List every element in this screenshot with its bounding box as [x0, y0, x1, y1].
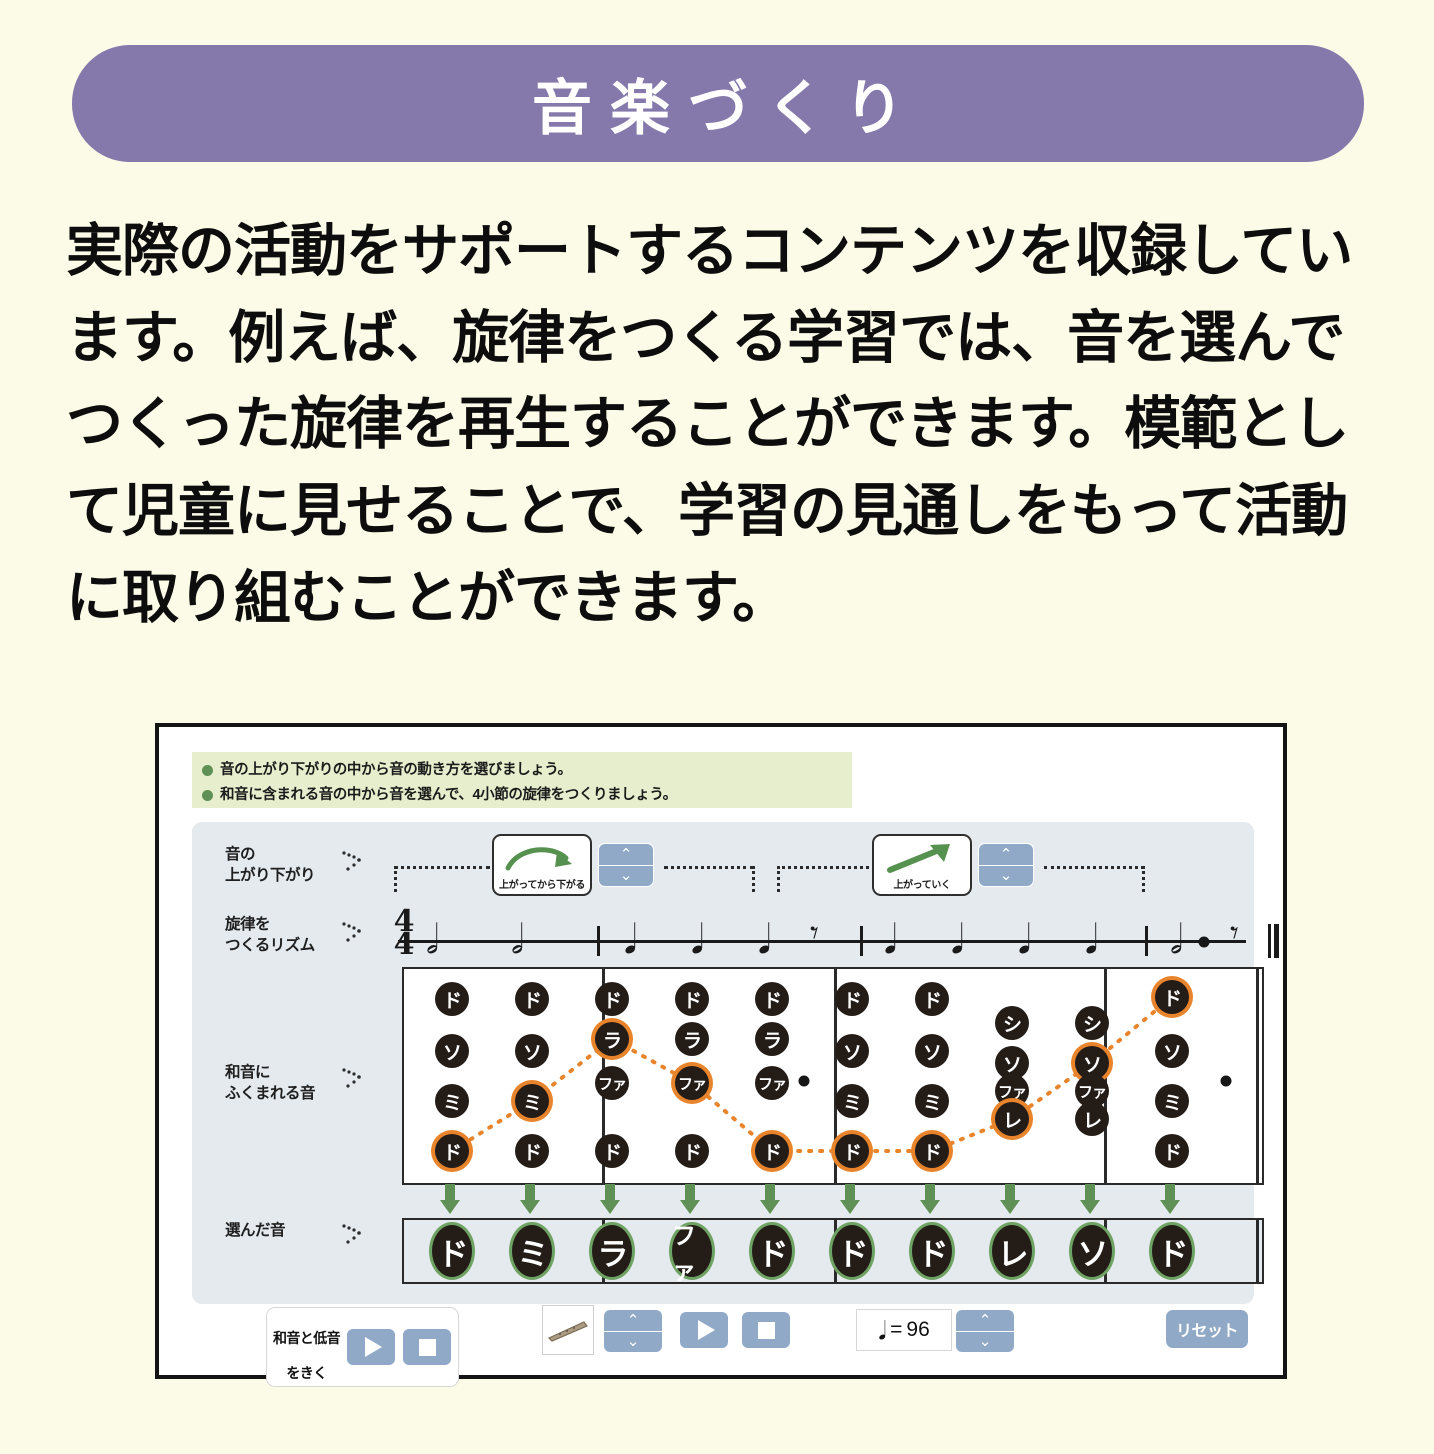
grid-end-barline	[1256, 969, 1259, 1183]
chord-bass-label: 和音と低音 をきく	[273, 1312, 340, 1382]
selection-arrows-group	[402, 1184, 1264, 1218]
instruction-item: 音の上がり下がりの中から音の動き方を選びましょう。	[202, 758, 842, 783]
note-chip[interactable]: ソ	[435, 1034, 469, 1068]
melody-builder-panel: 音の 上がり下がり 旋律を つくるリズム 和音に ふくまれる音 選んだ音	[192, 822, 1254, 1304]
melody-play-button[interactable]	[679, 1311, 729, 1349]
rhythm-staff[interactable]: 44 𝅗𝅥 𝅗𝅥 𝅘𝅥 𝅘𝅥 𝅘𝅥 𝄾 𝅘𝅥 𝅘𝅥 𝅘𝅥 𝅘𝅥 𝅗𝅥 𝄾	[392, 906, 1252, 968]
chosen-end-barline	[1256, 1220, 1259, 1282]
direction-card-label: 上がっていく	[893, 876, 950, 891]
quarter-note-icon: 𝅘𝅥	[878, 1318, 886, 1343]
chosen-note[interactable]: レ	[989, 1222, 1035, 1280]
note-chip[interactable]: ソ	[1155, 1034, 1189, 1068]
end-barline	[1274, 924, 1279, 958]
bullet-icon	[202, 790, 213, 801]
tempo-equals: =	[890, 1318, 902, 1342]
note-chip-selected[interactable]: ド	[1155, 980, 1189, 1014]
play-icon	[698, 1320, 715, 1340]
dotted-arrow-icon	[342, 1222, 368, 1248]
player-toolbar: 和音と低音 をきく ⌃ ⌄	[159, 1303, 1283, 1363]
stepper-up-icon[interactable]: ⌃	[599, 844, 653, 866]
note-chip[interactable]: ド	[675, 1134, 709, 1168]
note-chip[interactable]: シ	[1075, 1006, 1109, 1040]
note-chip[interactable]: ミ	[915, 1084, 949, 1118]
note-chip[interactable]: ミ	[835, 1084, 869, 1118]
tempo-field[interactable]: 𝅘𝅥 = 96	[856, 1309, 952, 1351]
note-chip[interactable]: ド	[755, 982, 789, 1016]
app-screenshot-frame: 音の上がり下がりの中から音の動き方を選びましょう。 和音に含まれる音の中から音を…	[155, 723, 1287, 1379]
note-chip[interactable]: ド	[595, 982, 629, 1016]
dotted-connector	[394, 866, 490, 869]
stepper-down-icon[interactable]: ⌄	[956, 1332, 1014, 1353]
instruction-text: 和音に含まれる音の中から音を選んで、4小節の旋律をつくりましょう。	[220, 783, 677, 808]
dotted-arrow-icon	[342, 920, 368, 946]
note-chip[interactable]: ド	[1155, 1134, 1189, 1168]
direction-stepper-1[interactable]: ⌃ ⌄	[598, 843, 654, 887]
note-chip[interactable]: レ	[1075, 1102, 1109, 1136]
note-chip-selected[interactable]: ド	[835, 1134, 869, 1168]
note-chip[interactable]: ド	[675, 982, 709, 1016]
note-chip[interactable]: ラ	[675, 1022, 709, 1056]
chosen-note[interactable]: ミ	[509, 1222, 555, 1280]
note-chip[interactable]: ド	[435, 982, 469, 1016]
stepper-down-icon[interactable]: ⌄	[599, 866, 653, 887]
dotted-connector-stub	[394, 866, 397, 892]
chord-play-button[interactable]	[346, 1328, 396, 1366]
note-chip[interactable]: ド	[515, 1134, 549, 1168]
note-chip-selected[interactable]: ド	[915, 1134, 949, 1168]
note-dotted-half[interactable]: 𝅗𝅥	[1170, 920, 1183, 960]
dotted-connector	[1044, 866, 1144, 869]
label-chosen-notes: 選んだ音	[225, 1220, 285, 1241]
dotted-connector-stub	[1142, 866, 1145, 892]
dotted-arrow-icon	[342, 1066, 368, 1092]
instruction-banner: 音の上がり下がりの中から音の動き方を選びましょう。 和音に含まれる音の中から音を…	[192, 752, 852, 808]
tempo-value: 96	[906, 1318, 929, 1342]
rest-marker-dot	[1221, 1076, 1232, 1087]
note-chip[interactable]: ミ	[435, 1084, 469, 1118]
augmentation-dot	[1199, 937, 1210, 948]
chosen-note[interactable]: ド	[749, 1222, 795, 1280]
recorder-instrument-icon	[546, 1317, 590, 1343]
note-chip[interactable]: ファ	[755, 1066, 789, 1100]
note-chip[interactable]: ソ	[515, 1034, 549, 1068]
chosen-note[interactable]: ソ	[1069, 1222, 1115, 1280]
note-chip[interactable]: ド	[515, 982, 549, 1016]
note-chip[interactable]: ド	[835, 982, 869, 1016]
end-barline	[1268, 924, 1271, 958]
note-chip-selected[interactable]: ミ	[515, 1084, 549, 1118]
label-pitch-direction: 音の 上がり下がり	[225, 844, 315, 887]
chosen-note[interactable]: ド	[909, 1222, 955, 1280]
note-quarter[interactable]: 𝅘𝅥	[1018, 920, 1031, 960]
note-chip[interactable]: ド	[915, 982, 949, 1016]
direction-card-rising[interactable]: 上がっていく	[872, 834, 972, 896]
chord-bass-player-group: 和音と低音 をきく	[266, 1307, 459, 1387]
direction-card-arch[interactable]: 上がってから下がる	[492, 834, 592, 896]
chosen-note[interactable]: ド	[429, 1222, 475, 1280]
bullet-icon	[202, 765, 213, 776]
note-chip-selected[interactable]: ファ	[675, 1066, 709, 1100]
note-quarter[interactable]: 𝅘𝅥	[884, 920, 897, 960]
barline	[597, 926, 600, 956]
note-chip-selected[interactable]: ド	[755, 1134, 789, 1168]
chosen-note[interactable]: ド	[829, 1222, 875, 1280]
note-chip[interactable]: ラ	[755, 1022, 789, 1056]
stop-icon	[419, 1339, 436, 1356]
note-chip[interactable]: ミ	[1155, 1084, 1189, 1118]
direction-card-label: 上がってから下がる	[499, 876, 585, 891]
stepper-up-icon[interactable]: ⌃	[979, 844, 1033, 866]
melody-stop-button[interactable]	[741, 1311, 791, 1349]
note-chip[interactable]: ド	[595, 1134, 629, 1168]
reset-button[interactable]: リセット	[1165, 1309, 1249, 1349]
chord-stop-button[interactable]	[402, 1328, 452, 1366]
note-half[interactable]: 𝅗𝅥	[511, 920, 524, 960]
note-chip-selected[interactable]: レ	[995, 1102, 1029, 1136]
note-quarter[interactable]: 𝅘𝅥	[691, 920, 704, 960]
stepper-up-icon[interactable]: ⌃	[956, 1310, 1014, 1332]
note-chip[interactable]: シ	[995, 1006, 1029, 1040]
dotted-connector-stub	[752, 866, 755, 892]
dotted-connector	[664, 866, 754, 869]
staff-line	[398, 940, 1246, 943]
note-quarter[interactable]: 𝅘𝅥	[1085, 920, 1098, 960]
stepper-down-icon[interactable]: ⌄	[604, 1332, 662, 1353]
rest-marker-dot	[799, 1076, 810, 1087]
label-rhythm: 旋律を つくるリズム	[225, 914, 315, 957]
note-chip-selected[interactable]: ド	[435, 1134, 469, 1168]
chosen-note[interactable]: ラ	[589, 1222, 635, 1280]
stepper-up-icon[interactable]: ⌃	[604, 1310, 662, 1332]
note-half[interactable]: 𝅗𝅥	[426, 920, 439, 960]
barline	[860, 926, 863, 956]
instrument-stepper[interactable]: ⌃ ⌄	[603, 1309, 663, 1353]
instruction-text: 音の上がり下がりの中から音の動き方を選びましょう。	[220, 758, 572, 783]
page-header-banner: 音楽づくり	[72, 45, 1364, 162]
chosen-note[interactable]: ド	[1149, 1222, 1195, 1280]
barline	[1145, 926, 1148, 956]
stepper-down-icon[interactable]: ⌄	[979, 866, 1033, 887]
dotted-arrow-icon	[342, 849, 368, 875]
note-chip[interactable]: ソ	[915, 1034, 949, 1068]
label-chord-notes: 和音に ふくまれる音	[225, 1062, 315, 1105]
direction-stepper-2[interactable]: ⌃ ⌄	[978, 843, 1034, 887]
dotted-connector	[777, 866, 869, 869]
stop-icon	[758, 1322, 775, 1339]
time-signature: 44	[392, 910, 416, 957]
rest-eighth[interactable]: 𝄾	[810, 916, 819, 949]
chord-note-grid[interactable]: ド ソ ミ ド ド ソ ミ ド ド ラ ファ ド ド ラ ファ ド ド ラ ファ…	[402, 967, 1264, 1185]
measure-separator	[1104, 969, 1107, 1183]
body-paragraph: 実際の活動をサポートするコンテンツを収録しています。例えば、旋律をつくる学習では…	[66, 208, 1386, 641]
note-quarter[interactable]: 𝅘𝅥	[951, 920, 964, 960]
play-icon	[365, 1337, 382, 1357]
instruction-item: 和音に含まれる音の中から音を選んで、4小節の旋律をつくりましょう。	[202, 783, 842, 808]
page-title: 音楽づくり	[514, 60, 922, 147]
note-chip[interactable]: ソ	[835, 1034, 869, 1068]
tempo-stepper[interactable]: ⌃ ⌄	[955, 1309, 1015, 1353]
dotted-connector-stub	[777, 866, 780, 892]
arch-arrow-icon	[502, 842, 582, 876]
pitch-direction-row: 上がってから下がる ⌃ ⌄ 上がっていく ⌃ ⌄	[392, 830, 1237, 902]
note-chip[interactable]: ファ	[595, 1066, 629, 1100]
note-quarter[interactable]: 𝅘𝅥	[758, 920, 771, 960]
rising-arrow-icon	[882, 842, 962, 876]
chosen-notes-row[interactable]: ド ミ ラ ファ ド ド ド レ ソ ド	[402, 1218, 1264, 1284]
instrument-thumbnail[interactable]	[542, 1305, 594, 1355]
chosen-note[interactable]: ファ	[669, 1222, 715, 1280]
note-quarter[interactable]: 𝅘𝅥	[624, 920, 637, 960]
note-chip-selected[interactable]: ラ	[595, 1022, 629, 1056]
rest-quarter[interactable]: 𝄾	[1230, 916, 1239, 949]
